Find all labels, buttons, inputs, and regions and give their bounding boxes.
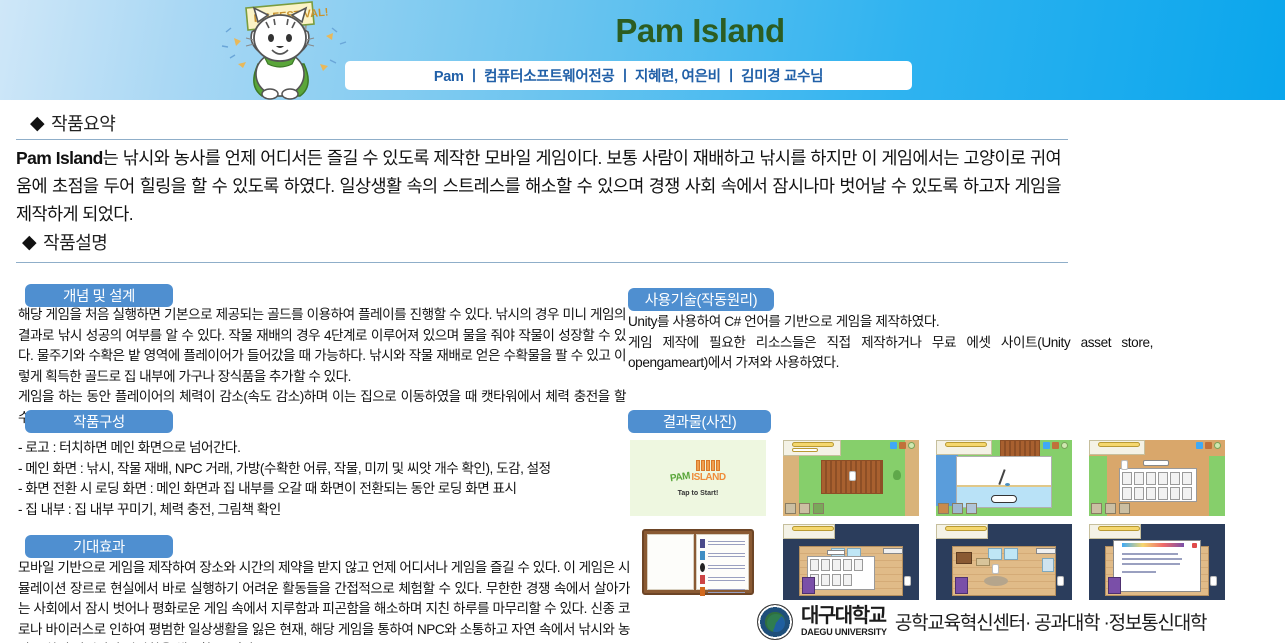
gold-bar-icon: [945, 526, 987, 531]
window-icon: [1004, 548, 1018, 560]
screenshot-house-room[interactable]: [936, 524, 1072, 600]
inventory-slot[interactable]: [785, 503, 796, 514]
summary-divider: [16, 139, 1068, 140]
gold-bar-icon: [792, 442, 834, 447]
dialog-popup: [1113, 540, 1201, 592]
gear-icon[interactable]: [908, 442, 915, 449]
book-icon[interactable]: [1205, 442, 1212, 449]
screenshot-picture-book[interactable]: [630, 524, 766, 600]
footer-departments: 공학교육혁신센터· 공과대학 ·정보통신대학: [895, 608, 1206, 635]
section-badge-result: 결과물(사진): [628, 410, 771, 433]
bag-icon[interactable]: [890, 442, 897, 449]
diamond-bullet-icon: ◆: [22, 233, 36, 252]
fishing-rod-icon: [998, 469, 1005, 485]
gear-icon[interactable]: [1214, 442, 1221, 449]
screenshot-fishing-minigame[interactable]: [936, 440, 1072, 516]
university-name-ko: 대구대학교: [801, 606, 887, 626]
rug-furniture: [984, 576, 1008, 586]
pond-water: [936, 454, 958, 506]
inventory-slot[interactable]: [938, 503, 949, 514]
fishing-action-button[interactable]: [991, 495, 1017, 503]
player-character: [904, 576, 911, 586]
splash-pam-text: PAM: [670, 470, 691, 484]
poster-root: DU FESTIVAL!: [0, 0, 1285, 643]
section-badge-effect: 기대효과: [25, 535, 173, 558]
splash-fence-icon: [696, 460, 720, 471]
daegu-university-seal-icon: [757, 604, 793, 640]
fish-icon: [1005, 483, 1010, 486]
stamina-bar-icon: [792, 448, 818, 452]
gold-bar-icon: [1098, 442, 1140, 447]
cat-tower-icon[interactable]: [1042, 558, 1054, 572]
description-divider: [16, 262, 1068, 263]
hud-topbar: [783, 440, 919, 454]
menu-card-button[interactable]: [802, 577, 815, 594]
inventory-slot[interactable]: [1105, 503, 1116, 514]
hud-topbar: [936, 524, 1072, 538]
screenshot-house-decorate[interactable]: [783, 524, 919, 600]
section-body-tech: Unity를 사용하여 C# 언어를 기반으로 게임을 제작하였다. 게임 제작…: [628, 312, 1153, 374]
poster-footer: 대구대학교 DAEGU UNIVERSITY 공학교육혁신센터· 공과대학 ·정…: [757, 600, 1285, 643]
gear-icon[interactable]: [1061, 442, 1068, 449]
du-festival-mascot-icon: DU FESTIVAL!: [200, 0, 360, 103]
dialog-color-bar: [1122, 543, 1184, 547]
fishing-panel: [956, 456, 1052, 508]
player-character: [992, 564, 999, 574]
player-character: [849, 471, 856, 481]
decorate-button[interactable]: [883, 548, 903, 554]
summary-heading: ◆ 작품요약: [30, 110, 115, 136]
gold-bar-icon: [1098, 526, 1140, 531]
close-icon[interactable]: [1192, 543, 1197, 548]
trade-title-bar: [1143, 460, 1169, 466]
npc-character: [1121, 460, 1128, 470]
gold-bar-icon: [792, 526, 834, 531]
grass-patch: [1209, 456, 1225, 516]
hud-topbar: [783, 524, 919, 538]
menu-card-button[interactable]: [955, 577, 968, 594]
diamond-bullet-icon: ◆: [30, 114, 44, 133]
screenshot-dialog-popup[interactable]: [1089, 524, 1225, 600]
splash-logo-icon: PAM ISLAND: [670, 460, 725, 483]
section-badge-tech: 사용기술(작동원리): [628, 288, 774, 311]
tree-icon: [893, 470, 901, 480]
bag-icon[interactable]: [1196, 442, 1203, 449]
poster-header: DU FESTIVAL!: [0, 0, 1285, 100]
inventory-slot[interactable]: [1091, 503, 1102, 514]
window-icon: [988, 548, 1002, 560]
decorate-button[interactable]: [1036, 548, 1056, 554]
section-badge-compose: 작품구성: [25, 410, 173, 433]
book-illustration-icon: [642, 529, 754, 595]
inventory-slot[interactable]: [1119, 503, 1130, 514]
hud-topbar: [1089, 440, 1225, 454]
decorate-panel: [807, 556, 875, 590]
description-heading-label: 작품설명: [43, 229, 107, 255]
compose-line: - 화면 전환 시 로딩 화면 : 메인 화면과 집 내부를 오갈 때 화면이 …: [18, 479, 628, 500]
poster-subtitle-bar: Pam ㅣ 컴퓨터소프트웨어전공 ㅣ 지혜련, 여은비 ㅣ 김미경 교수님: [345, 61, 912, 90]
gallery-row-1: PAM ISLAND Tap to Start!: [630, 440, 1270, 516]
inventory-slot[interactable]: [952, 503, 963, 514]
menu-card-button[interactable]: [1108, 577, 1121, 594]
cabinet-furniture: [956, 552, 972, 564]
compose-line: - 로고 : 터치하면 메인 화면으로 넘어간다.: [18, 438, 628, 459]
table-furniture: [976, 558, 990, 566]
description-heading: ◆ 작품설명: [22, 229, 107, 255]
summary-paragraph: Pam Island는 낚시와 농사를 언제 어디서든 즐길 수 있도록 제작한…: [16, 144, 1061, 228]
daegu-university-wordmark: 대구대학교 DAEGU UNIVERSITY: [801, 606, 887, 637]
poster-title: Pam Island: [440, 12, 960, 50]
panel-title: [827, 550, 845, 555]
book-icon[interactable]: [899, 442, 906, 449]
summary-body-text: 는 낚시와 농사를 언제 어디서든 즐길 수 있도록 제작한 모바일 게임이다.…: [16, 148, 1061, 224]
inventory-slot[interactable]: [799, 503, 810, 514]
inventory-slot[interactable]: [813, 503, 824, 514]
trade-panel: [1119, 468, 1197, 502]
inventory-slot[interactable]: [966, 503, 977, 514]
hud-topbar: [936, 440, 1072, 454]
book-page-left: [647, 534, 694, 590]
book-icon[interactable]: [1052, 442, 1059, 449]
bag-icon[interactable]: [1043, 442, 1050, 449]
cat-character: [1057, 576, 1064, 586]
cat-character: [1210, 576, 1217, 586]
section-body-compose: - 로고 : 터치하면 메인 화면으로 넘어간다. - 메인 화면 : 낚시, …: [18, 438, 628, 520]
compose-line: - 메인 화면 : 낚시, 작물 재배, NPC 거래, 가방(수확한 어류, …: [18, 459, 628, 480]
summary-lead-title: Pam Island: [16, 148, 103, 168]
screenshot-farm-field[interactable]: [783, 440, 919, 516]
university-name-en: DAEGU UNIVERSITY: [801, 628, 887, 637]
splash-island-text: ISLAND: [691, 472, 725, 483]
compose-line: - 집 내부 : 집 내부 꾸미기, 체력 충전, 그림책 확인: [18, 500, 628, 521]
book-page-right: [696, 534, 749, 590]
poster-subtitle: Pam ㅣ 컴퓨터소프트웨어전공 ㅣ 지혜련, 여은비 ㅣ 김미경 교수님: [434, 65, 823, 86]
summary-heading-label: 작품요약: [51, 110, 115, 136]
result-gallery: PAM ISLAND Tap to Start!: [630, 440, 1270, 608]
gold-bar-icon: [945, 442, 987, 447]
screenshot-npc-trade[interactable]: [1089, 440, 1225, 516]
screenshot-splash-logo[interactable]: PAM ISLAND Tap to Start!: [630, 440, 766, 516]
section-badge-concept: 개념 및 설계: [25, 284, 173, 307]
splash-tap-to-start-text: Tap to Start!: [678, 490, 719, 497]
section-body-effect: 모바일 기반으로 게임을 제작하여 장소와 시간의 제약을 받지 않고 언제 어…: [18, 558, 630, 643]
hud-topbar: [1089, 524, 1225, 538]
gallery-row-2: [630, 524, 1270, 600]
